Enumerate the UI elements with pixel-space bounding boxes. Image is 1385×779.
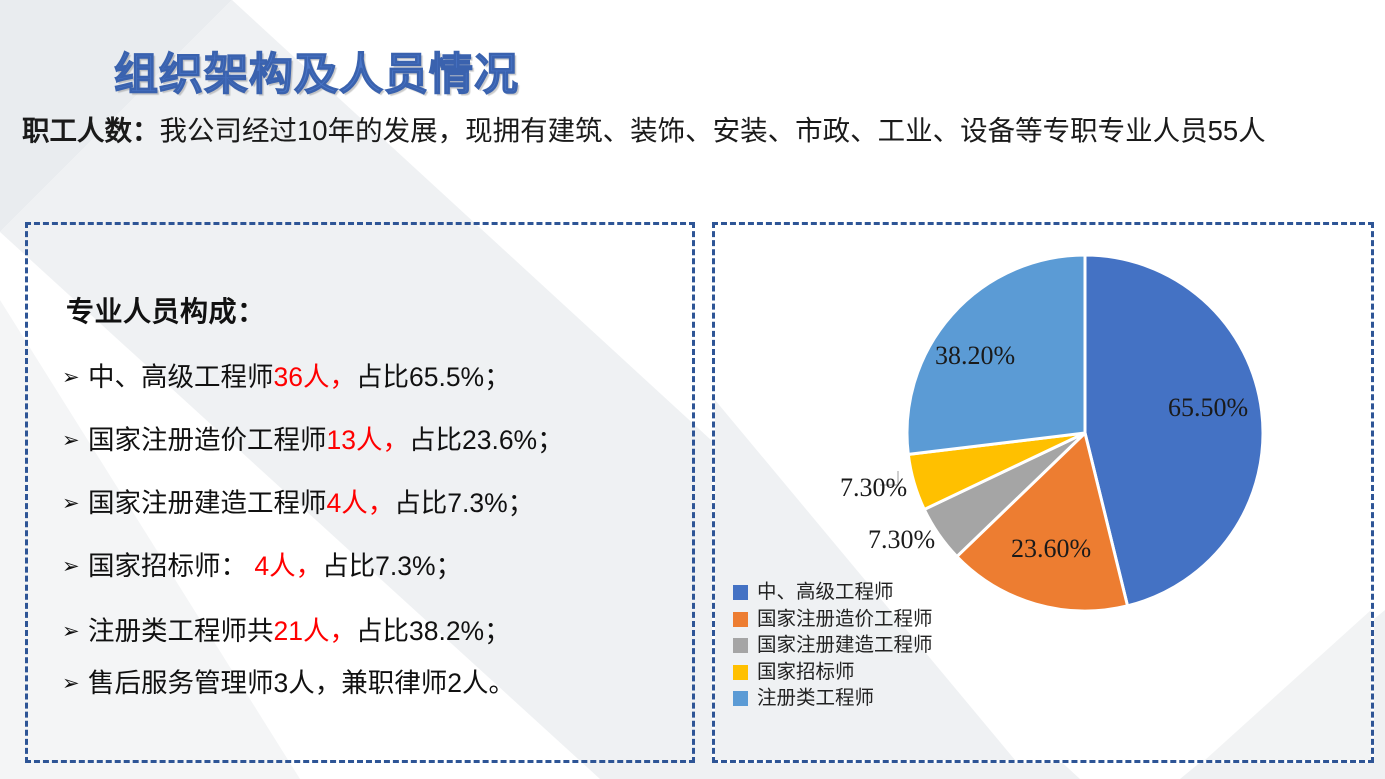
legend-label: 国家注册造价工程师 [757,610,933,630]
chart-legend: 中、高级工程师国家注册造价工程师国家注册建造工程师国家招标师注册类工程师 [733,583,933,709]
list-item-text: 售后服务管理师3人，兼职律师2人。 [88,668,515,698]
list-item-highlight: 36人， [274,362,356,392]
composition-heading: 专业人员构成： [66,290,266,330]
legend-label: 注册类工程师 [757,689,874,709]
list-item: ➢售后服务管理师3人，兼职律师2人。 [62,661,662,700]
list-item-suffix: 占比7.3%； [322,551,462,581]
bullet-arrow-icon: ➢ [62,671,88,696]
intro-lead-label: 职工人数： [22,115,160,146]
list-item: ➢国家注册造价工程师13人，占比23.6%； [62,418,662,457]
list-item-text: 注册类工程师共 [88,616,274,646]
legend-label: 国家注册建造工程师 [757,636,933,656]
legend-item[interactable]: 国家注册建造工程师 [733,636,933,656]
list-item: ➢国家招标师： 4人，占比7.3%； [62,544,662,583]
legend-swatch-icon [733,612,748,627]
legend-swatch-icon [733,638,748,653]
list-item-text: 中、高级工程师 [88,362,274,392]
list-item-suffix: 占比7.3%； [394,488,534,518]
intro-paragraph: 职工人数：我公司经过10年的发展，现拥有建筑、装饰、安装、市政、工业、设备等专职… [22,112,1374,149]
list-item-suffix: 占比38.2%； [356,616,511,646]
legend-label: 国家招标师 [757,663,855,683]
legend-item[interactable]: 国家注册造价工程师 [733,610,933,630]
intro-body-text: 我公司经过10年的发展，现拥有建筑、装饰、安装、市政、工业、设备等专职专业人员5… [160,115,1266,146]
slide-canvas: 组织架构及人员情况 职工人数：我公司经过10年的发展，现拥有建筑、装饰、安装、市… [0,0,1385,779]
pie-slice-label: 7.30% [868,525,935,555]
pie-slice-label: 7.30% [840,473,907,503]
legend-item[interactable]: 中、高级工程师 [733,583,933,603]
list-item-text: 国家注册造价工程师 [88,425,327,455]
bullet-arrow-icon: ➢ [62,554,88,579]
pie-slice-label: 23.60% [1011,534,1091,564]
legend-item[interactable]: 注册类工程师 [733,689,933,709]
bullet-arrow-icon: ➢ [62,365,88,390]
list-item-suffix: 占比65.5%； [356,362,511,392]
page-title: 组织架构及人员情况 [114,38,519,102]
bullet-arrow-icon: ➢ [62,619,88,644]
bullet-arrow-icon: ➢ [62,428,88,453]
list-item-highlight: 13人， [327,425,409,455]
list-item-highlight: 4人， [247,551,322,581]
legend-label: 中、高级工程师 [757,583,894,603]
list-item-text: 国家注册建造工程师 [88,488,327,518]
legend-swatch-icon [733,585,748,600]
list-item-suffix: 占比23.6%； [409,425,564,455]
legend-swatch-icon [733,691,748,706]
legend-swatch-icon [733,665,748,680]
legend-item[interactable]: 国家招标师 [733,663,933,683]
list-item: ➢中、高级工程师36人，占比65.5%； [62,355,662,394]
list-item-highlight: 21人， [274,616,356,646]
bullet-arrow-icon: ➢ [62,491,88,516]
list-item-text: 国家招标师： [88,551,247,581]
list-item-highlight: 4人， [327,488,395,518]
list-item: ➢注册类工程师共21人，占比38.2%； [62,609,662,648]
pie-slice-label: 38.20% [935,341,1015,371]
list-item: ➢国家注册建造工程师4人，占比7.3%； [62,481,662,520]
pie-slice-label: 65.50% [1168,393,1248,423]
